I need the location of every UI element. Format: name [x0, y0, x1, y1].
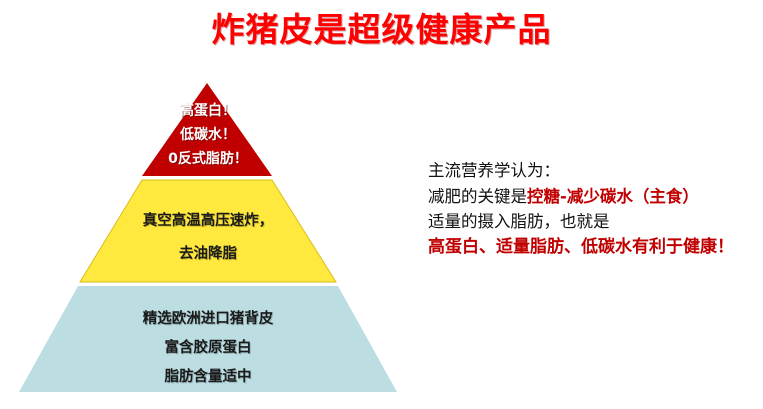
tier-top-line-3: 0反式脂肪！: [133, 147, 283, 171]
tier-top-line-1: 高蛋白！: [133, 99, 283, 123]
tier-middle-line-1: 真空高温高压速炸，: [98, 205, 318, 238]
tier-bottom-line-1: 精选欧洲进口猪背皮: [63, 305, 353, 334]
nutrition-note-line-2-highlight: 控糖-减少碳水（主食）: [527, 187, 699, 206]
page-title: 炸猪皮是超级健康产品: [0, 8, 763, 52]
nutrition-note-block: 主流营养学认为： 减肥的关键是控糖-减少碳水（主食） 适量的摄入脂肪，也就是 高…: [428, 158, 758, 260]
pyramid-tier-bottom-label: 精选欧洲进口猪背皮 富含胶原蛋白 脂肪含量适中: [63, 305, 353, 392]
tier-top-line-2: 低碳水！: [133, 123, 283, 147]
nutrition-note-line-2: 减肥的关键是控糖-减少碳水（主食）: [428, 184, 758, 210]
tier-bottom-line-2: 富含胶原蛋白: [63, 334, 353, 363]
pyramid-diagram: 高蛋白！ 低碳水！ 0反式脂肪！ 真空高温高压速炸， 去油降脂 精选欧洲进口猪背…: [0, 70, 430, 405]
pyramid-tier-top-label: 高蛋白！ 低碳水！ 0反式脂肪！: [133, 99, 283, 171]
tier-middle-line-2: 去油降脂: [98, 238, 318, 271]
nutrition-note-line-2-prefix: 减肥的关键是: [428, 187, 527, 206]
nutrition-note-line-3: 适量的摄入脂肪，也就是: [428, 209, 758, 235]
tier-bottom-line-3: 脂肪含量适中: [63, 363, 353, 392]
pyramid-tier-middle-label: 真空高温高压速炸， 去油降脂: [98, 205, 318, 271]
slide-canvas: 炸猪皮是超级健康产品 高蛋白！ 低碳水！ 0反式脂肪！ 真空高温高压速炸， 去油…: [0, 0, 763, 409]
nutrition-note-line-4: 高蛋白、适量脂肪、低碳水有利于健康！: [428, 235, 758, 261]
nutrition-note-line-1: 主流营养学认为：: [428, 158, 758, 184]
